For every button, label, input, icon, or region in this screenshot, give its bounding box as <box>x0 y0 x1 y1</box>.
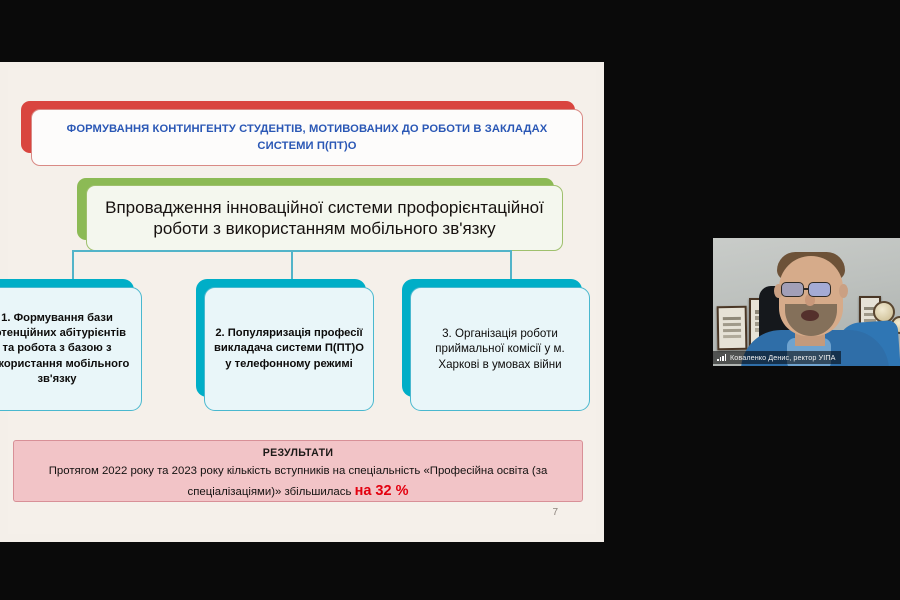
participant-name: Коваленко Денис, ректор УІПА <box>730 353 835 362</box>
step-box-3-label: 3. Організація роботи приймальної комісі… <box>420 326 580 373</box>
participant-ear-right <box>839 284 848 298</box>
eyeglasses-bridge <box>804 288 809 290</box>
results-body: Протягом 2022 року та 2023 року кількіст… <box>26 462 570 504</box>
eyeglasses-icon <box>808 282 831 297</box>
meeting-screen: ФОРМУВАННЯ КОНТИНГЕНТУ СТУДЕНТІВ, МОТИВО… <box>0 0 900 600</box>
results-heading: РЕЗУЛЬТАТИ <box>26 446 570 462</box>
connector-drop-left <box>72 250 74 279</box>
participant-video-tile[interactable]: Коваленко Денис, ректор УІПА <box>713 238 900 366</box>
step-box-1-label: 1. Формування бази потенційних абітурієн… <box>0 311 132 387</box>
step-box-2-label: 2. Популяризація професії викладача сист… <box>214 326 364 371</box>
signal-bars-icon <box>717 354 726 361</box>
framed-certificate-icon <box>717 306 748 351</box>
slide-subtitle-banner: Впровадження інноваційної системи профор… <box>86 185 563 251</box>
slide-canvas: ФОРМУВАННЯ КОНТИНГЕНТУ СТУДЕНТІВ, МОТИВО… <box>8 68 596 534</box>
eyeglasses-icon <box>781 282 804 297</box>
results-highlight: на 32 % <box>355 483 409 499</box>
slide-subtitle: Впровадження інноваційної системи профор… <box>97 197 552 240</box>
results-panel: РЕЗУЛЬТАТИ Протягом 2022 року та 2023 ро… <box>13 440 583 502</box>
slide-title-banner: ФОРМУВАННЯ КОНТИНГЕНТУ СТУДЕНТІВ, МОТИВО… <box>31 109 583 166</box>
slide-title: ФОРМУВАННЯ КОНТИНГЕНТУ СТУДЕНТІВ, МОТИВО… <box>46 121 568 153</box>
step-box-2: 2. Популяризація професії викладача сист… <box>204 287 374 411</box>
connector-drop-right <box>510 250 512 279</box>
participant-mouth <box>801 310 819 321</box>
shared-slide-view[interactable]: ФОРМУВАННЯ КОНТИНГЕНТУ СТУДЕНТІВ, МОТИВО… <box>0 62 604 542</box>
connector-drop-middle <box>291 250 293 279</box>
step-box-3: 3. Організація роботи приймальної комісі… <box>410 287 590 411</box>
results-body-text: Протягом 2022 року та 2023 року кількіст… <box>49 465 548 498</box>
slide-page-number: 7 <box>552 507 558 518</box>
participant-name-label: Коваленко Денис, ректор УІПА <box>713 351 841 364</box>
step-box-1: 1. Формування бази потенційних абітурієн… <box>0 287 142 411</box>
